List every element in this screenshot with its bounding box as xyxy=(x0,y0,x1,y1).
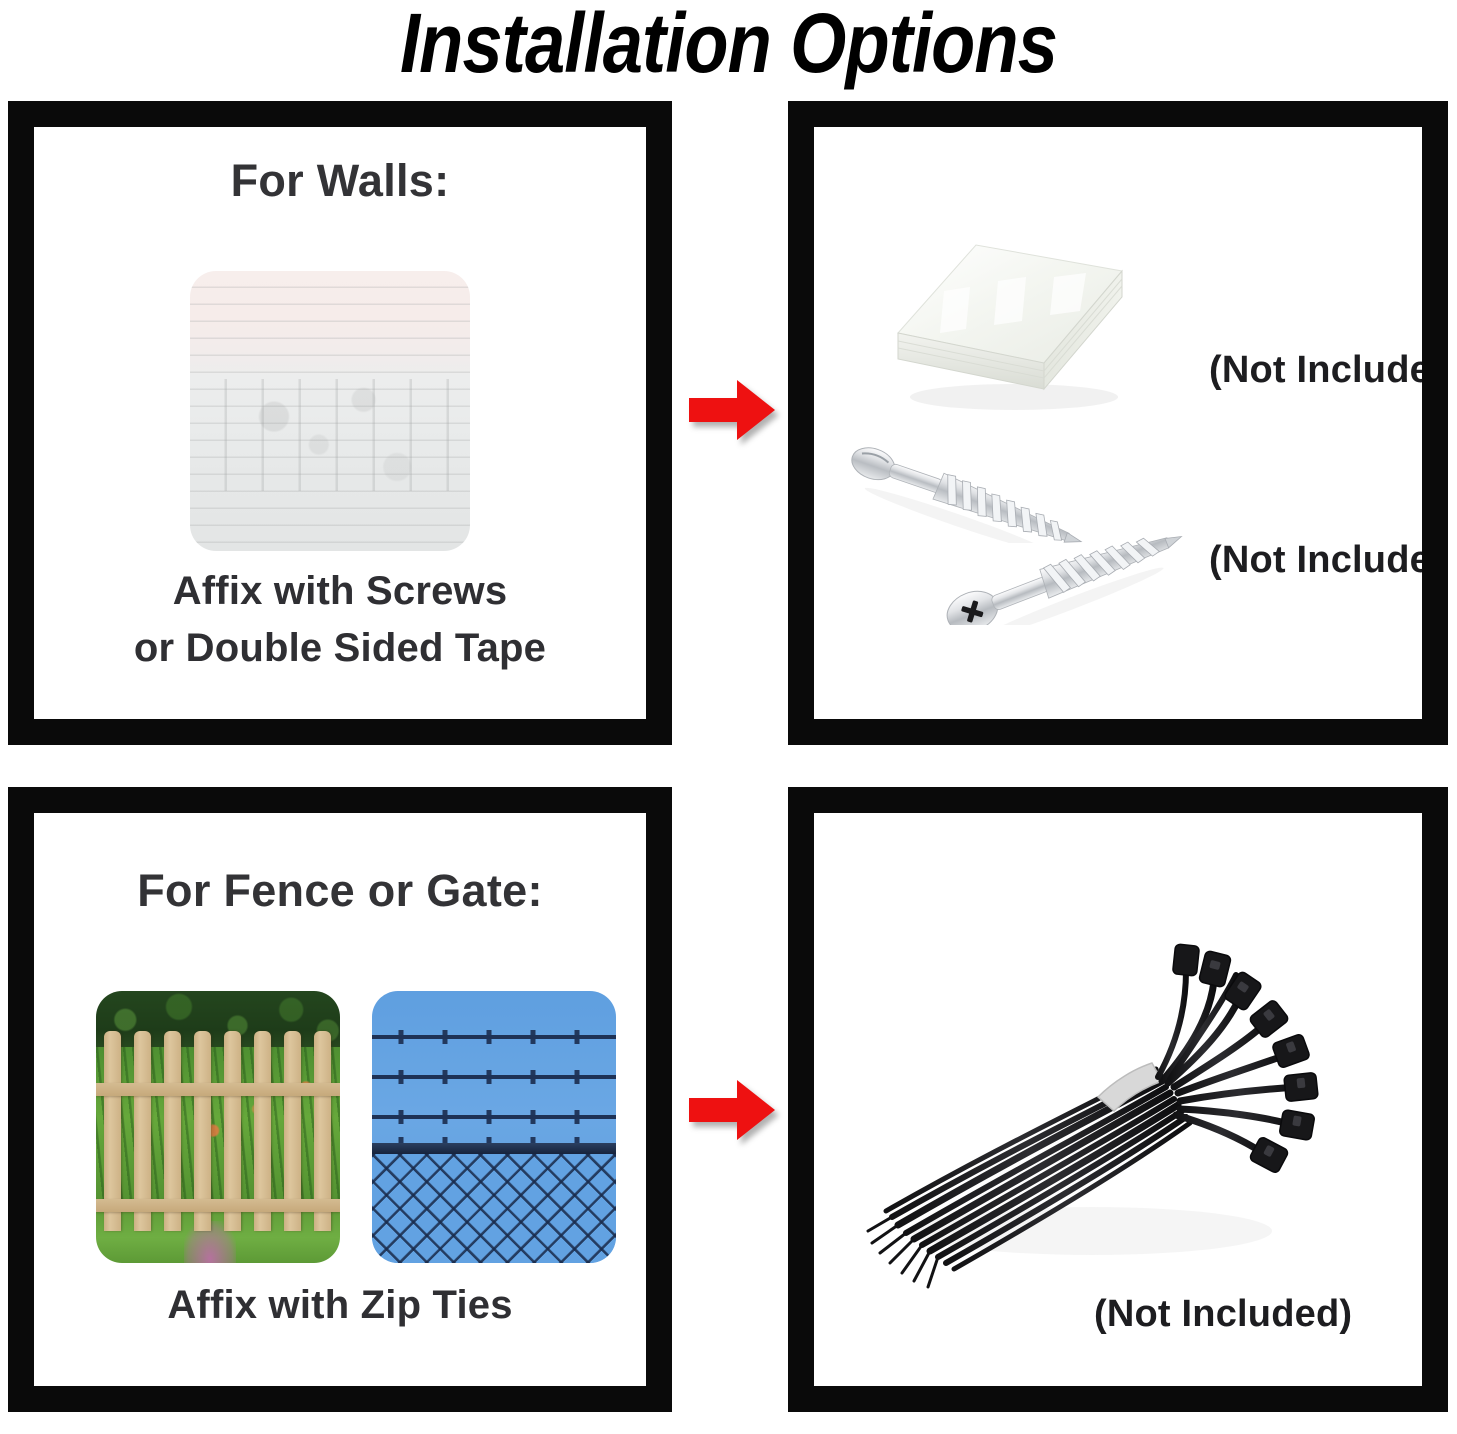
caption-line-2: or Double Sided Tape xyxy=(34,620,646,677)
fence-rail-bottom xyxy=(96,1199,340,1212)
panel-wall-hardware-content: (Not Included) xyxy=(814,127,1422,719)
picket-group xyxy=(96,991,340,1263)
barb-row xyxy=(372,1070,616,1084)
heading-for-walls: For Walls: xyxy=(34,155,646,207)
arrow-right-icon-bottom xyxy=(689,1078,775,1142)
caption-line-1: Affix with Screws xyxy=(34,563,646,620)
heading-for-fence-or-gate: For Fence or Gate: xyxy=(34,865,646,917)
arrow-right-icon-top xyxy=(689,378,775,442)
panel-for-fence-content: For Fence or Gate: xyxy=(34,813,646,1386)
brick-texture-mottle xyxy=(190,271,470,551)
panel-fence-hardware-content: (Not Included) xyxy=(814,813,1422,1386)
panel-for-fence-or-gate: For Fence or Gate: xyxy=(8,787,672,1412)
page-title: Installation Options xyxy=(102,0,1355,89)
screws-not-included-label: (Not Included) xyxy=(1209,539,1422,582)
barb-row xyxy=(372,1110,616,1124)
chain-link-mesh xyxy=(372,1154,616,1263)
panel-for-walls-content: For Walls: Affix with Screws or Double S… xyxy=(34,127,646,719)
panel-fence-hardware: (Not Included) xyxy=(788,787,1448,1412)
tape-not-included-label: (Not Included) xyxy=(1209,349,1422,392)
panel-for-walls: For Walls: Affix with Screws or Double S… xyxy=(8,101,672,745)
chain-link-barbed-wire-photo xyxy=(372,991,616,1263)
zip-ties-not-included-label: (Not Included) xyxy=(1094,1293,1352,1336)
caption-for-fence: Affix with Zip Ties xyxy=(34,1277,646,1334)
screw-lower-image xyxy=(936,529,1188,625)
wooden-picket-fence-photo xyxy=(96,991,340,1263)
caption-line-1: Affix with Zip Ties xyxy=(34,1277,646,1334)
caption-for-walls: Affix with Screws or Double Sided Tape xyxy=(34,563,646,677)
chain-link-top-rail xyxy=(372,1143,616,1154)
double-sided-tape-stack-image xyxy=(874,237,1136,413)
wall-photo-swatch xyxy=(190,271,470,551)
barb-row xyxy=(372,1030,616,1044)
panel-wall-hardware: (Not Included) xyxy=(788,101,1448,745)
zip-ties-bundle-image xyxy=(862,931,1332,1301)
fence-rail-top xyxy=(96,1083,340,1096)
